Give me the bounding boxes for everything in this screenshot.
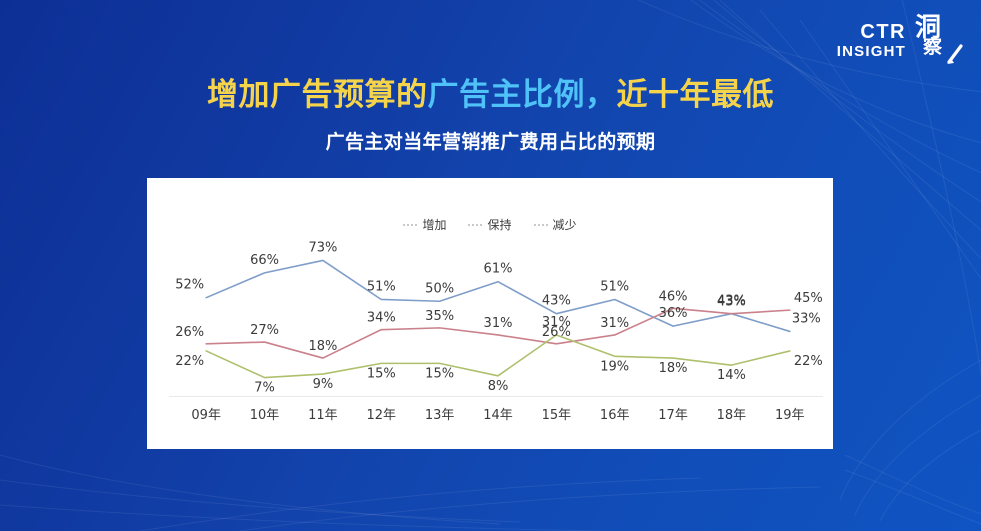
data-label-减少-15年: 31% (542, 315, 571, 330)
data-label-增加-16年: 51% (600, 279, 629, 294)
logo-chinese-mark: 洞 察 (911, 16, 967, 68)
x-tick-7: 16年 (586, 404, 644, 423)
data-label-增加-13年: 50% (425, 281, 454, 296)
x-tick-6: 15年 (527, 404, 585, 423)
page-title-part-3: 近十年最低 (617, 77, 775, 113)
data-label-保持-14年: 31% (484, 316, 513, 331)
data-label-增加-11年: 73% (308, 240, 337, 255)
logo-ctr-text: CTR (860, 22, 906, 43)
data-label-增加-14年: 61% (484, 262, 513, 277)
data-label-保持-12年: 34% (367, 311, 396, 326)
data-label-减少-14年: 8% (488, 379, 509, 394)
data-label-增加-17年: 36% (659, 306, 688, 321)
data-label-减少-12年: 15% (367, 366, 396, 381)
data-label-减少-18年: 14% (717, 368, 746, 383)
data-label-减少-13年: 15% (425, 366, 454, 381)
x-tick-8: 17年 (644, 404, 702, 423)
data-label-增加-09年: 52% (175, 278, 204, 293)
data-label-减少-19年: 22% (794, 354, 823, 369)
page-title: 增加广告预算的广告主比例，近十年最低 (0, 76, 981, 115)
logo-text-block: CTR INSIGHT (837, 16, 906, 61)
x-tick-2: 11年 (294, 404, 352, 423)
data-label-增加-15年: 43% (542, 294, 571, 309)
x-tick-1: 10年 (235, 404, 293, 423)
data-label-减少-17年: 18% (659, 361, 688, 376)
data-label-减少-09年: 22% (175, 354, 204, 369)
x-tick-9: 18年 (702, 404, 760, 423)
x-axis-baseline (169, 396, 823, 397)
data-label-保持-19年: 45% (794, 291, 823, 306)
slide-root: CTR INSIGHT 洞 察 增加广告预算的广告主比例，近十年最低 广告主对当… (0, 0, 981, 531)
data-label-增加-19年: 33% (792, 311, 821, 326)
x-tick-10: 19年 (761, 404, 819, 423)
data-label-减少-11年: 9% (313, 377, 334, 392)
data-label-保持-13年: 35% (425, 309, 454, 324)
page-title-part-1: 增加广告预算的 (207, 77, 428, 113)
x-axis-tick-labels: 09年 10年 11年 12年 13年 14年 15年 16年 17年 18年 … (177, 404, 819, 423)
logo-insight-text: INSIGHT (837, 43, 906, 61)
data-label-保持-10年: 27% (250, 323, 279, 338)
x-tick-4: 13年 (410, 404, 468, 423)
logo-brush-icon (911, 16, 967, 68)
data-label-保持-17年: 46% (659, 289, 688, 304)
page-subtitle: 广告主对当年营销推广费用占比的预期 (0, 127, 981, 154)
data-label-减少-16年: 19% (600, 359, 629, 374)
chart-card: 增加 保持 减少 52%66%73%51%50%61%43%51%36%43%3… (147, 178, 833, 449)
data-label-增加-10年: 66% (250, 253, 279, 268)
page-title-part-2: 广告主比例， (428, 77, 617, 113)
x-tick-0: 09年 (177, 404, 235, 423)
ctr-insight-logo: CTR INSIGHT 洞 察 (837, 16, 967, 72)
data-label-保持-09年: 26% (175, 325, 204, 340)
x-tick-3: 12年 (352, 404, 410, 423)
data-label-增加-12年: 51% (367, 279, 396, 294)
data-label-保持-16年: 31% (600, 316, 629, 331)
x-tick-5: 14年 (469, 404, 527, 423)
data-label-保持-11年: 18% (308, 339, 337, 354)
data-label-保持-18年: 43% (717, 295, 746, 310)
data-label-减少-10年: 7% (254, 381, 275, 396)
